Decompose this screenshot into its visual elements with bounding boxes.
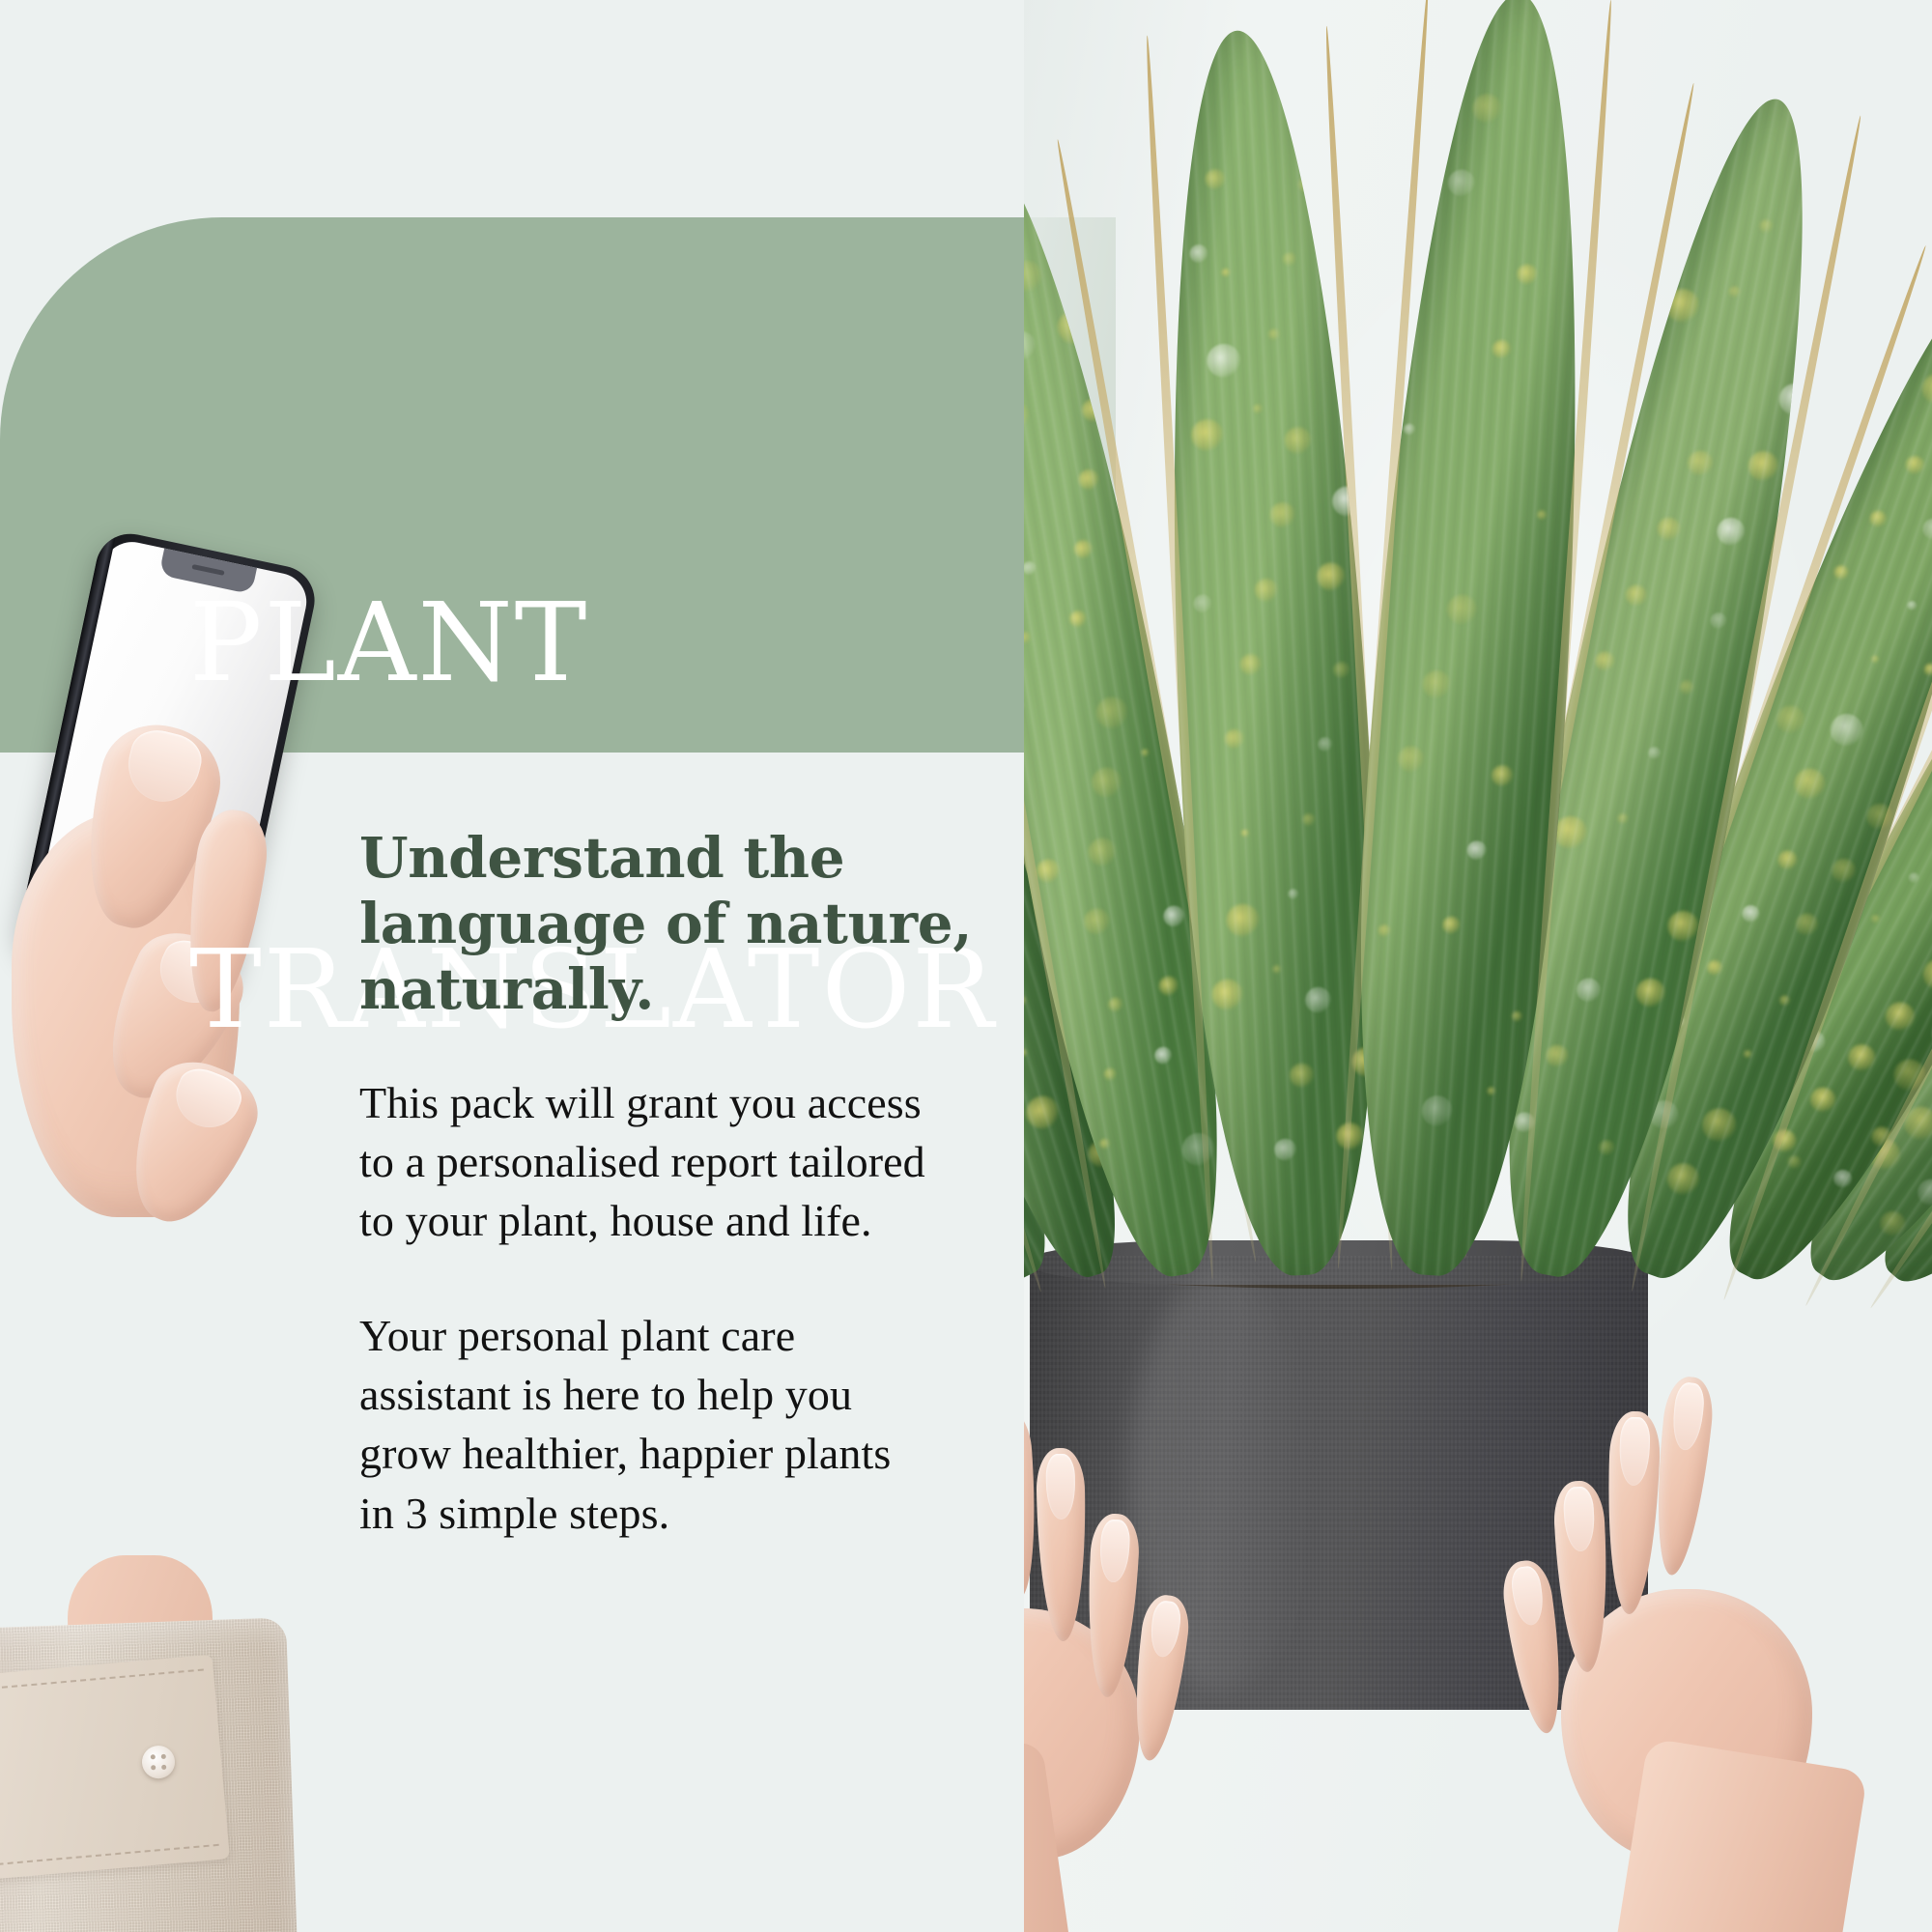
right-hand-on-pot	[1478, 1377, 1797, 1879]
fingernail	[1098, 1519, 1130, 1582]
title-line-1: PLANT	[189, 586, 996, 702]
fingernail	[1148, 1600, 1182, 1660]
poster-canvas: PLANT TRANSLATOR	[0, 0, 1932, 1932]
left-hand-on-pot	[1024, 1406, 1256, 1860]
cuff-band	[0, 1655, 230, 1880]
body-paragraph-2: Your personal plant care assistant is he…	[359, 1306, 1036, 1543]
snake-plant-leaves	[1024, 0, 1932, 1275]
copy-column: Understand the language of nature, natur…	[359, 826, 1036, 1543]
plant-photo	[1024, 0, 1932, 1932]
body-paragraph-1: This pack will grant you access to a per…	[359, 1073, 1036, 1251]
shirt-cuff	[0, 1617, 301, 1932]
cuff-stitching	[0, 1844, 219, 1865]
finger	[1604, 1410, 1661, 1615]
headline: Understand the language of nature, natur…	[359, 826, 1036, 1023]
fingernail	[1045, 1454, 1075, 1520]
cuff-stitching	[0, 1668, 204, 1690]
fingernail	[1509, 1565, 1546, 1628]
fingernail	[1563, 1486, 1597, 1552]
fingernail	[1670, 1381, 1706, 1452]
fingernail	[1618, 1417, 1651, 1487]
